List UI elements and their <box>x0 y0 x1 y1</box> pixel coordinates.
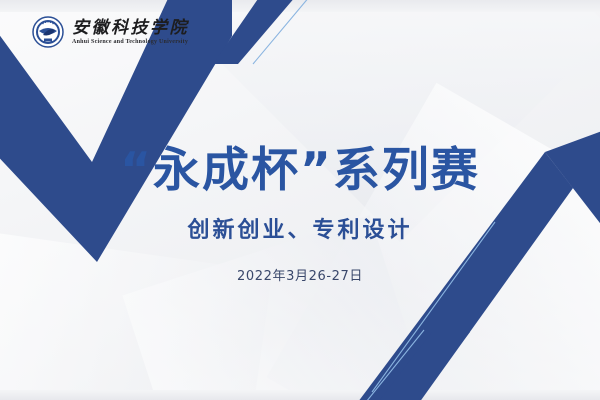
page-subtitle: 创新创业、专利设计 <box>0 212 600 244</box>
event-date: 2022年3月26-27日 <box>0 265 600 284</box>
brand-name-cn: 安徽科技学院 <box>72 19 189 36</box>
university-seal-icon <box>32 16 64 48</box>
page-title: “永成杯”系列赛 <box>0 146 600 196</box>
brand-lockup: 安徽科技学院 Anhui Science and Technology Univ… <box>32 16 189 48</box>
headline-block: “永成杯”系列赛 创新创业、专利设计 2022年3月26-27日 <box>0 146 600 284</box>
brand-name-en: Anhui Science and Technology University <box>72 39 189 45</box>
poster-canvas: 安徽科技学院 Anhui Science and Technology Univ… <box>0 0 600 400</box>
